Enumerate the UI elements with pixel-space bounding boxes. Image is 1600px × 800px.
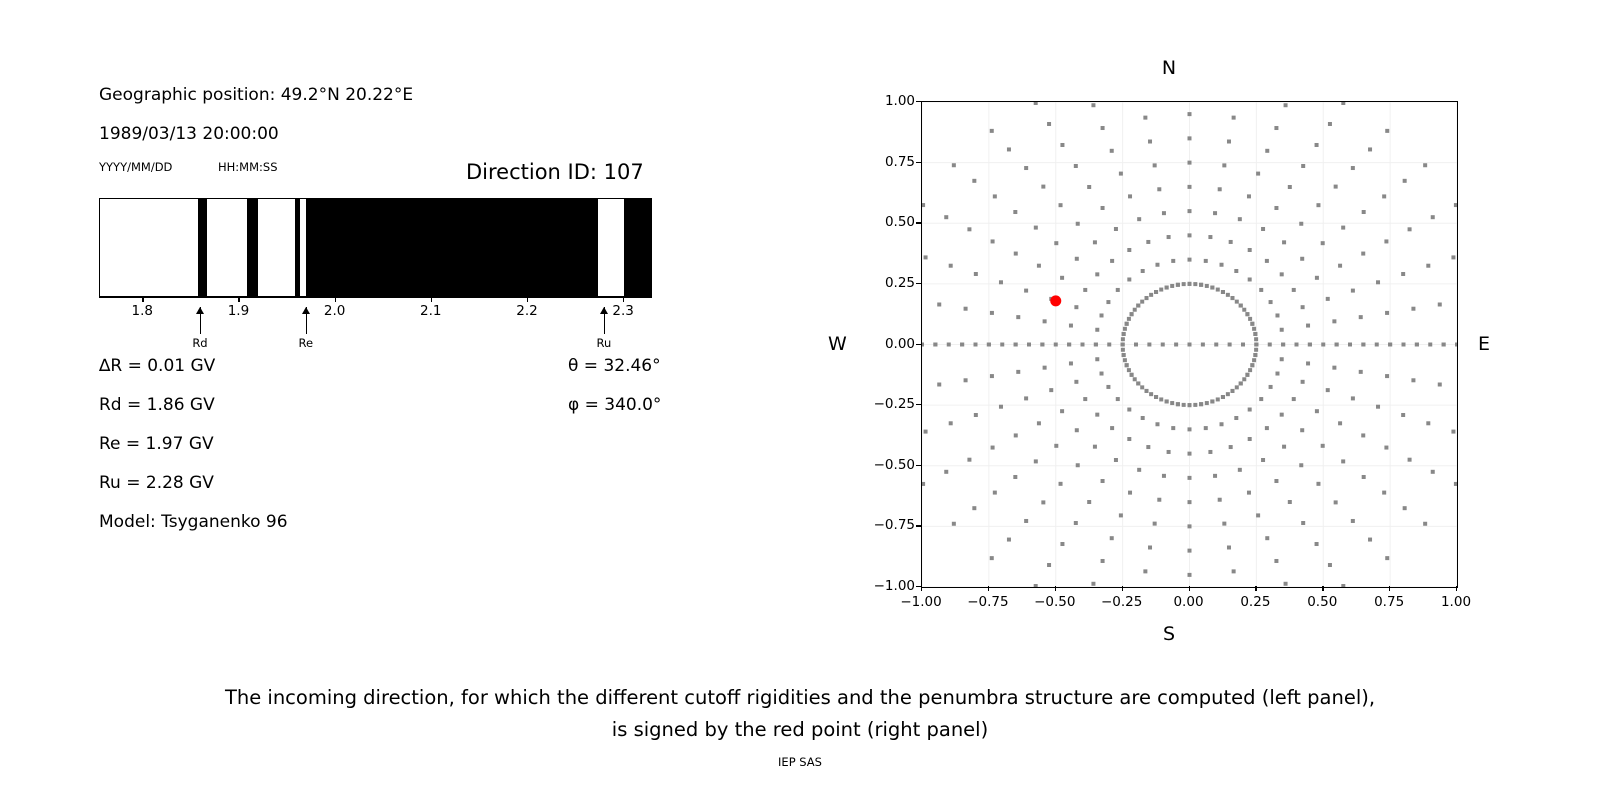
footer-credit: IEP SAS <box>0 755 1600 769</box>
y-axis-tick-mark <box>916 101 921 102</box>
caption-line-1: The incoming direction, for which the di… <box>0 682 1600 714</box>
direction-id-label: Direction ID: 107 <box>466 160 644 184</box>
parameter-value: ∆R = 0.01 GV <box>99 356 215 376</box>
angle-parameter-value: φ = 340.0° <box>568 395 661 415</box>
parameter-value: Ru = 2.28 GV <box>99 473 214 493</box>
x-axis-tick-mark <box>988 586 989 591</box>
x-axis-tick-mark <box>1189 586 1190 591</box>
x-axis-tick-mark <box>1122 586 1123 591</box>
y-axis-tick-mark <box>916 162 921 163</box>
x-axis-tick-mark <box>1456 586 1457 591</box>
figure-caption: The incoming direction, for which the di… <box>0 682 1600 746</box>
time-format-hint: HH:MM:SS <box>218 160 278 174</box>
y-axis-tick-mark <box>916 283 921 284</box>
x-axis-tick-mark <box>1322 586 1323 591</box>
x-axis-tick-mark <box>1055 586 1056 591</box>
parameter-value: Model: Tsyganenko 96 <box>99 512 288 532</box>
rigidity-marker-label: Ru <box>597 336 612 350</box>
penumbra-forbidden-band <box>306 199 598 296</box>
penumbra-structure-bar <box>99 198 652 297</box>
penumbra-forbidden-band <box>247 199 258 296</box>
y-axis-tick-mark <box>916 465 921 466</box>
rigidity-marker-label: Rd <box>192 336 207 350</box>
parameter-value: Rd = 1.86 GV <box>99 395 215 415</box>
y-axis-tick-mark <box>916 222 921 223</box>
x-axis-tick-mark <box>921 586 922 591</box>
angle-parameter-value: θ = 32.46° <box>568 356 661 376</box>
arrow-head-icon <box>196 307 204 314</box>
geographic-position-label: Geographic position: 49.2°N 20.22°E <box>99 85 413 105</box>
penumbra-forbidden-band <box>198 199 207 296</box>
rigidity-markers: RdReRu <box>99 297 652 357</box>
parameters-left-column: ∆R = 0.01 GVRd = 1.86 GVRe = 1.97 GVRu =… <box>99 356 429 541</box>
arrow-head-icon <box>600 307 608 314</box>
caption-line-2: is signed by the red point (right panel) <box>0 714 1600 746</box>
penumbra-forbidden-band <box>624 199 652 296</box>
penumbra-forbidden-band <box>295 199 300 296</box>
datetime-label: 1989/03/13 20:00:00 <box>99 124 279 144</box>
left-panel: Geographic position: 49.2°N 20.22°E 1989… <box>0 0 800 660</box>
parameter-value: Re = 1.97 GV <box>99 434 214 454</box>
x-axis-tick-mark <box>1389 586 1390 591</box>
y-axis-tick-mark <box>916 344 921 345</box>
parameters-right-column: θ = 32.46°φ = 340.0° <box>568 356 768 456</box>
axis-tick-marks <box>800 0 1600 660</box>
rigidity-marker-label: Re <box>298 336 313 350</box>
y-axis-tick-mark <box>916 525 921 526</box>
arrow-head-icon <box>302 307 310 314</box>
y-axis-tick-mark <box>916 404 921 405</box>
date-format-hint: YYYY/MM/DD <box>99 160 172 174</box>
right-panel: N S W E −1.00−0.75−0.50−0.250.000.250.50… <box>800 0 1600 660</box>
x-axis-tick-mark <box>1255 586 1256 591</box>
